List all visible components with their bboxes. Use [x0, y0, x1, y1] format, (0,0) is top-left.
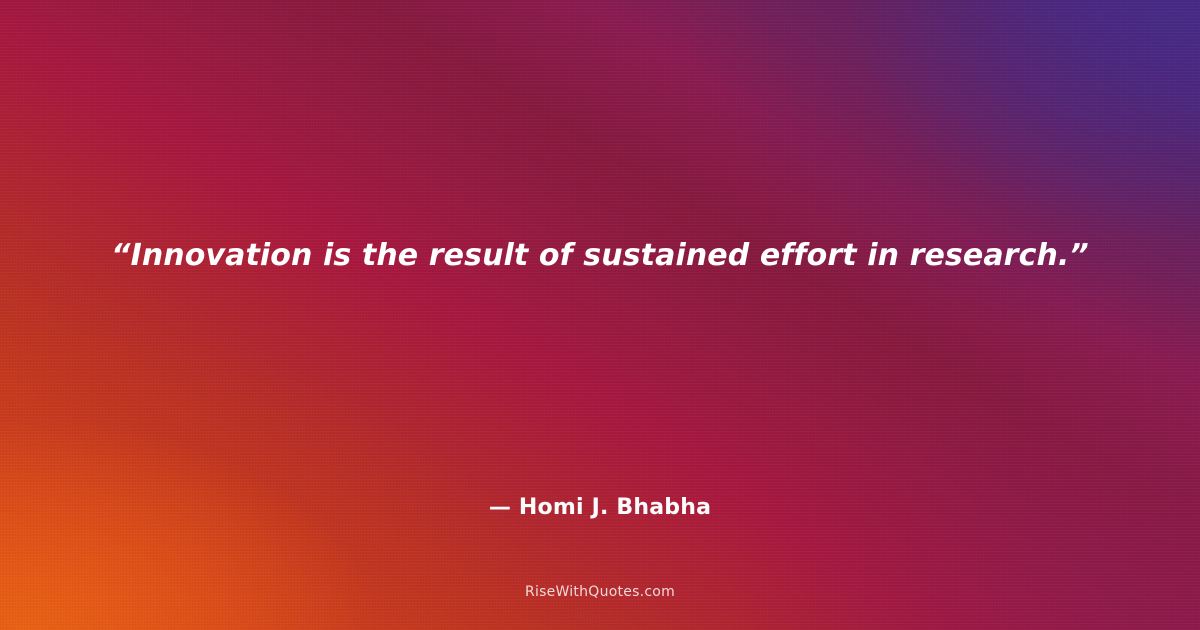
quote-attribution: — Homi J. Bhabha	[0, 494, 1200, 523]
quote-text: “Innovation is the result of sustained e…	[0, 236, 1200, 277]
quote-content-stack: “Innovation is the result of sustained e…	[0, 0, 1200, 630]
quote-card: “Innovation is the result of sustained e…	[0, 0, 1200, 630]
site-watermark: RiseWithQuotes.com	[0, 583, 1200, 601]
